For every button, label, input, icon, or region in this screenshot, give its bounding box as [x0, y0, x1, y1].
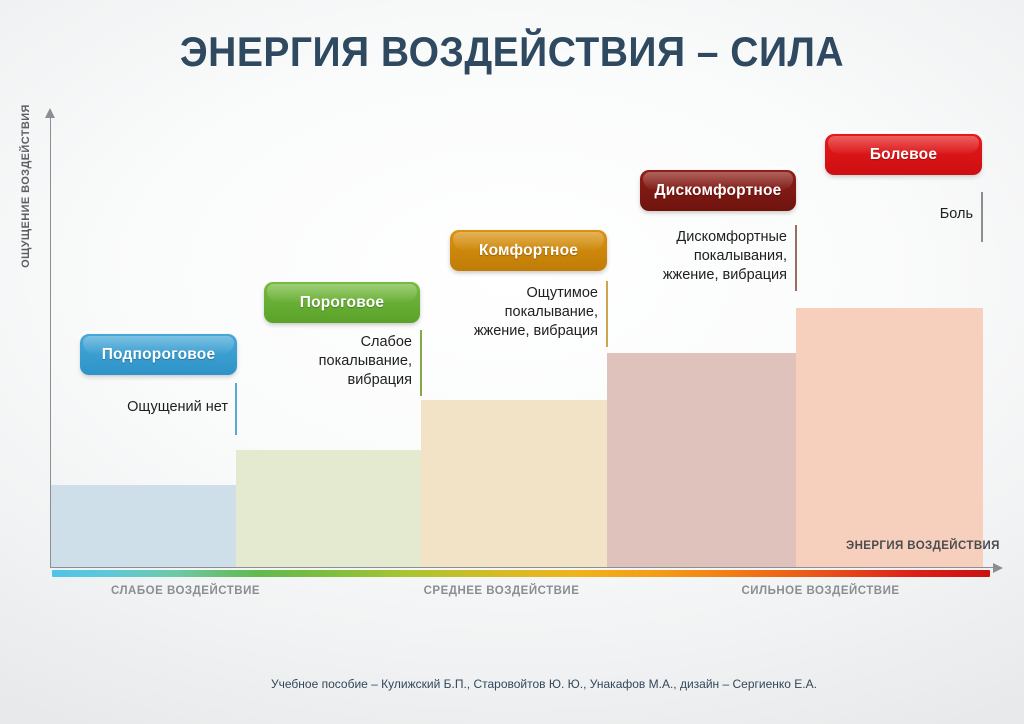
bar-porogovoe — [236, 450, 421, 567]
description-diskomfortnoe: Дискомфортные покалывания, жжение, вибра… — [613, 228, 796, 285]
infographic-canvas: ЭНЕРГИЯ ВОЗДЕЙСТВИЯ – СИЛА ОЩУЩЕНИЕ ВОЗД… — [0, 0, 1024, 724]
description-bolevoe: Боль — [800, 205, 982, 224]
bar-podporogovoe — [50, 485, 236, 567]
pill-label: Подпороговое — [102, 346, 216, 364]
pill-label: Комфортное — [479, 242, 578, 260]
description-rule-podporogovoe — [235, 383, 237, 435]
y-axis-label: ОЩУЩЕНИЕ ВОЗДЕЙСТВИЯ — [20, 76, 32, 296]
x-axis-caption: ЭНЕРГИЯ ВОЗДЕЙСТВИЯ — [846, 540, 1000, 552]
pill-diskomfortnoe[interactable]: Дискомфортное — [640, 170, 796, 211]
pill-label: Болевое — [870, 146, 937, 164]
description-rule-komfortnoe — [606, 281, 608, 347]
pill-porogovoe[interactable]: Пороговое — [264, 282, 420, 323]
pill-label: Пороговое — [300, 294, 384, 312]
pill-label: Дискомфортное — [654, 182, 781, 200]
footer-credits: Учебное пособие – Кулижский Б.П., Старов… — [0, 677, 1024, 691]
x-axis-arrow-icon — [993, 563, 1003, 573]
pill-podporogovoe[interactable]: Подпороговое — [80, 334, 237, 375]
description-rule-bolevoe — [981, 192, 983, 242]
bar-komfortnoe — [421, 400, 607, 567]
pill-komfortnoe[interactable]: Комфортное — [450, 230, 607, 271]
bar-bolevoe — [796, 308, 983, 567]
footer-credits-text: Учебное пособие – Кулижский Б.П., Старов… — [207, 677, 817, 691]
energy-gradient-bar — [52, 570, 990, 577]
zone-label-weak: СЛАБОЕ ВОЗДЕЙСТВИЕ — [73, 585, 298, 597]
zone-label-strong: СИЛЬНОЕ ВОЗДЕЙСТВИЕ — [708, 585, 933, 597]
description-porogovoe: Слабое покалывание, вибрация — [240, 333, 421, 390]
pill-bolevoe[interactable]: Болевое — [825, 134, 982, 175]
description-rule-porogovoe — [420, 330, 422, 396]
description-rule-diskomfortnoe — [795, 225, 797, 291]
description-komfortnoe: Ощутимое покалывание, жжение, вибрация — [424, 284, 607, 341]
x-axis-line — [50, 567, 995, 568]
zone-label-medium: СРЕДНЕЕ ВОЗДЕЙСТВИЕ — [389, 585, 614, 597]
description-podporogovoe: Ощущений нет — [57, 398, 237, 417]
bar-diskomfortnoe — [607, 353, 796, 567]
page-title: ЭНЕРГИЯ ВОЗДЕЙСТВИЯ – СИЛА — [36, 28, 988, 76]
y-axis-arrow-icon — [45, 108, 55, 118]
y-axis-line — [50, 116, 51, 568]
